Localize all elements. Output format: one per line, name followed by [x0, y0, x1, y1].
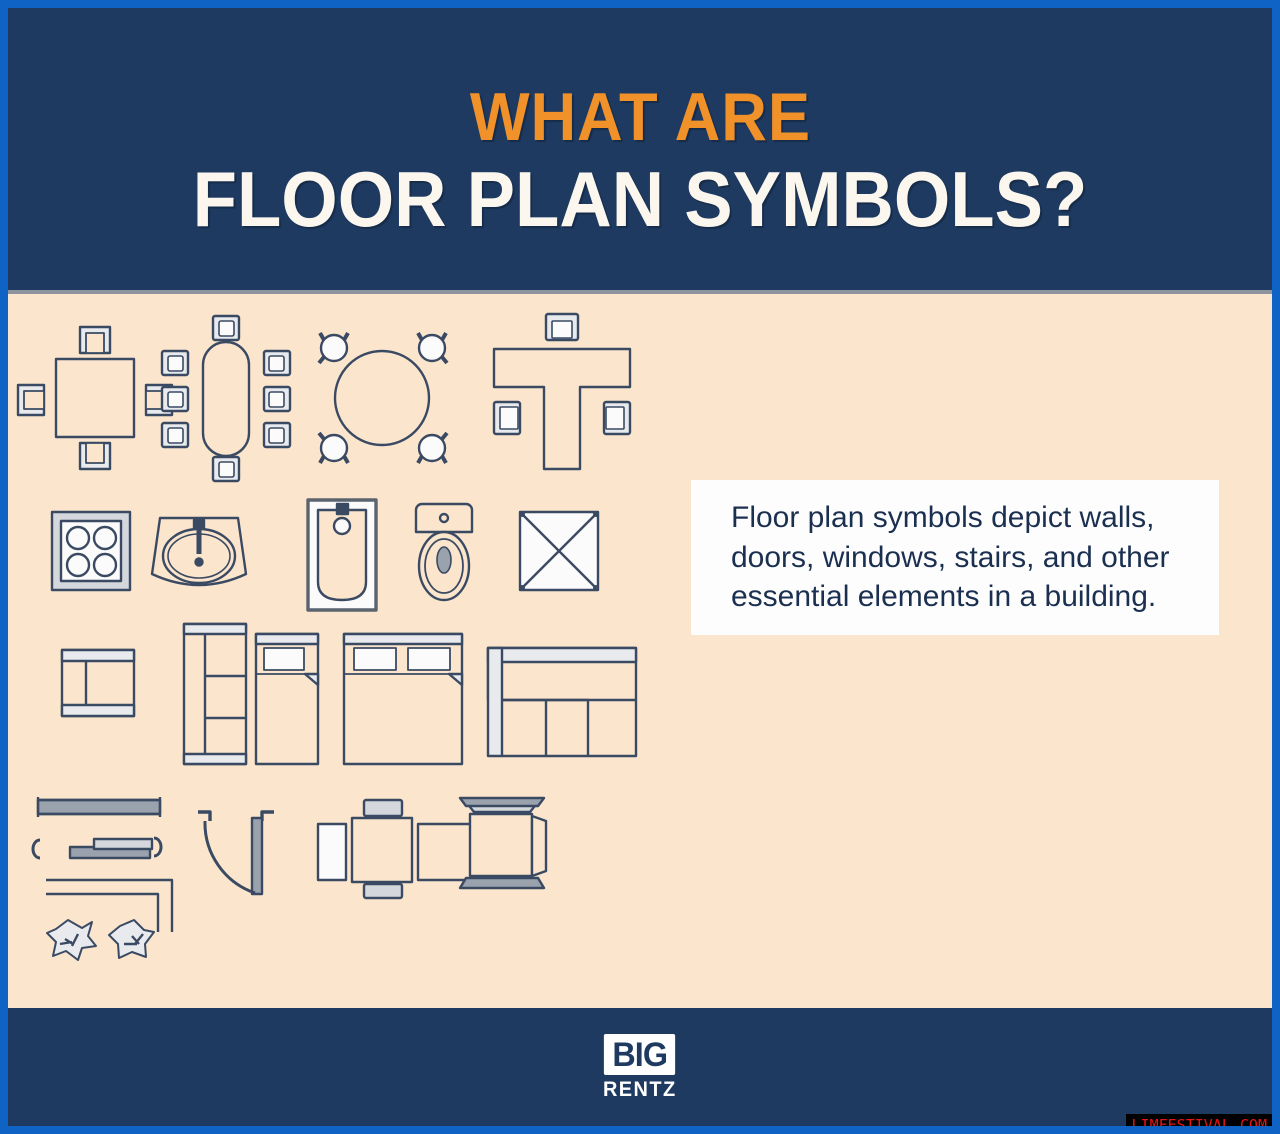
logo-big-text: BIG — [604, 1034, 676, 1075]
appliance-box-with-cross — [519, 511, 599, 591]
cabinet-with-chairs — [460, 798, 546, 888]
double-bed — [344, 634, 462, 764]
description-text: Floor plan symbols depict walls, doors, … — [691, 498, 1219, 618]
tall-bookshelf-shelving-unit — [184, 624, 246, 764]
poster-inner: WHAT ARE FLOOR PLAN SYMBOLS? — [8, 8, 1272, 1126]
stove-cooktop-four-burner — [52, 512, 130, 590]
page-title-line-2: FLOOR PLAN SYMBOLS? — [193, 157, 1088, 241]
l-shaped-sectional-sofa — [488, 648, 636, 756]
site-watermark: LIMFESTIVAL.COM — [1126, 1114, 1272, 1127]
bathtub — [308, 500, 376, 610]
round-table-with-four-chairs — [319, 333, 447, 463]
page-title-line-1: WHAT ARE — [469, 83, 810, 152]
toilet — [416, 504, 472, 600]
plant-shrub-pair — [47, 920, 154, 960]
sliding-window-section — [33, 838, 161, 858]
bigrentz-logo[interactable]: BIG RENTZ — [581, 1034, 699, 1100]
floor-plan-symbol-grid — [8, 294, 688, 1008]
description-callout: Floor plan symbols depict walls, doors, … — [691, 480, 1219, 635]
poster-header: WHAT ARE FLOOR PLAN SYMBOLS? — [8, 8, 1272, 290]
logo-rentz-text: RENTZ — [603, 1079, 677, 1100]
door-with-swing-arc — [198, 812, 274, 894]
small-table-nightstand — [62, 650, 134, 716]
t-shaped-desk-with-three-chairs — [494, 314, 630, 469]
poster-footer: BIG RENTZ LIMFESTIVAL.COM — [8, 1008, 1272, 1126]
symbols-panel: Floor plan symbols depict walls, doors, … — [8, 294, 1272, 1008]
oval-conference-table-with-eight-chairs — [162, 316, 290, 481]
bathroom-sink-basin — [152, 518, 246, 585]
single-bed — [256, 634, 318, 764]
infographic-poster: WHAT ARE FLOOR PLAN SYMBOLS? — [0, 0, 1280, 1134]
window-wall-section — [38, 797, 160, 817]
square-table-with-four-chairs — [18, 327, 172, 469]
desk-with-chair-and-side-tables — [318, 800, 474, 898]
